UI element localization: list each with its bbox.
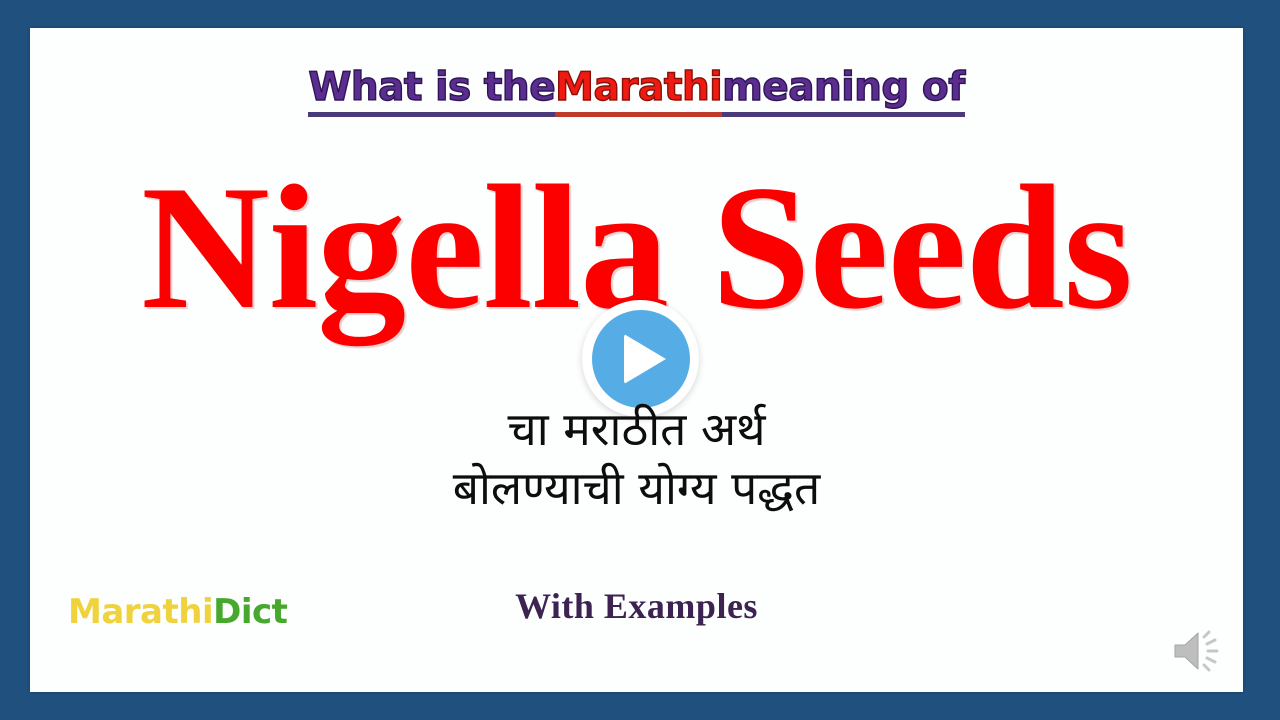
- heading-highlight-marathi: Marathi: [555, 68, 722, 117]
- brand-logo-dict: Dict: [213, 592, 287, 632]
- heading-suffix: meaning of: [722, 68, 965, 117]
- marathi-line-1: चा मराठीत अर्थ: [30, 400, 1243, 459]
- heading-prefix: What is the: [308, 68, 555, 117]
- marathi-line-2: बोलण्याची योग्य पद्धत: [30, 459, 1243, 518]
- slide-canvas: What is the Marathi meaning of Nigella S…: [30, 28, 1243, 692]
- play-button-circle[interactable]: [592, 310, 690, 408]
- play-triangle-icon: [624, 334, 666, 384]
- brand-logo-marathi: Marathi: [68, 592, 213, 632]
- heading: What is the Marathi meaning of: [30, 68, 1243, 117]
- speaker-icon[interactable]: [1172, 628, 1226, 674]
- marathi-text-block: चा मराठीत अर्थ बोलण्याची योग्य पद्धत: [30, 400, 1243, 518]
- brand-logo: MarathiDict: [68, 592, 287, 632]
- slide-frame: What is the Marathi meaning of Nigella S…: [0, 0, 1280, 720]
